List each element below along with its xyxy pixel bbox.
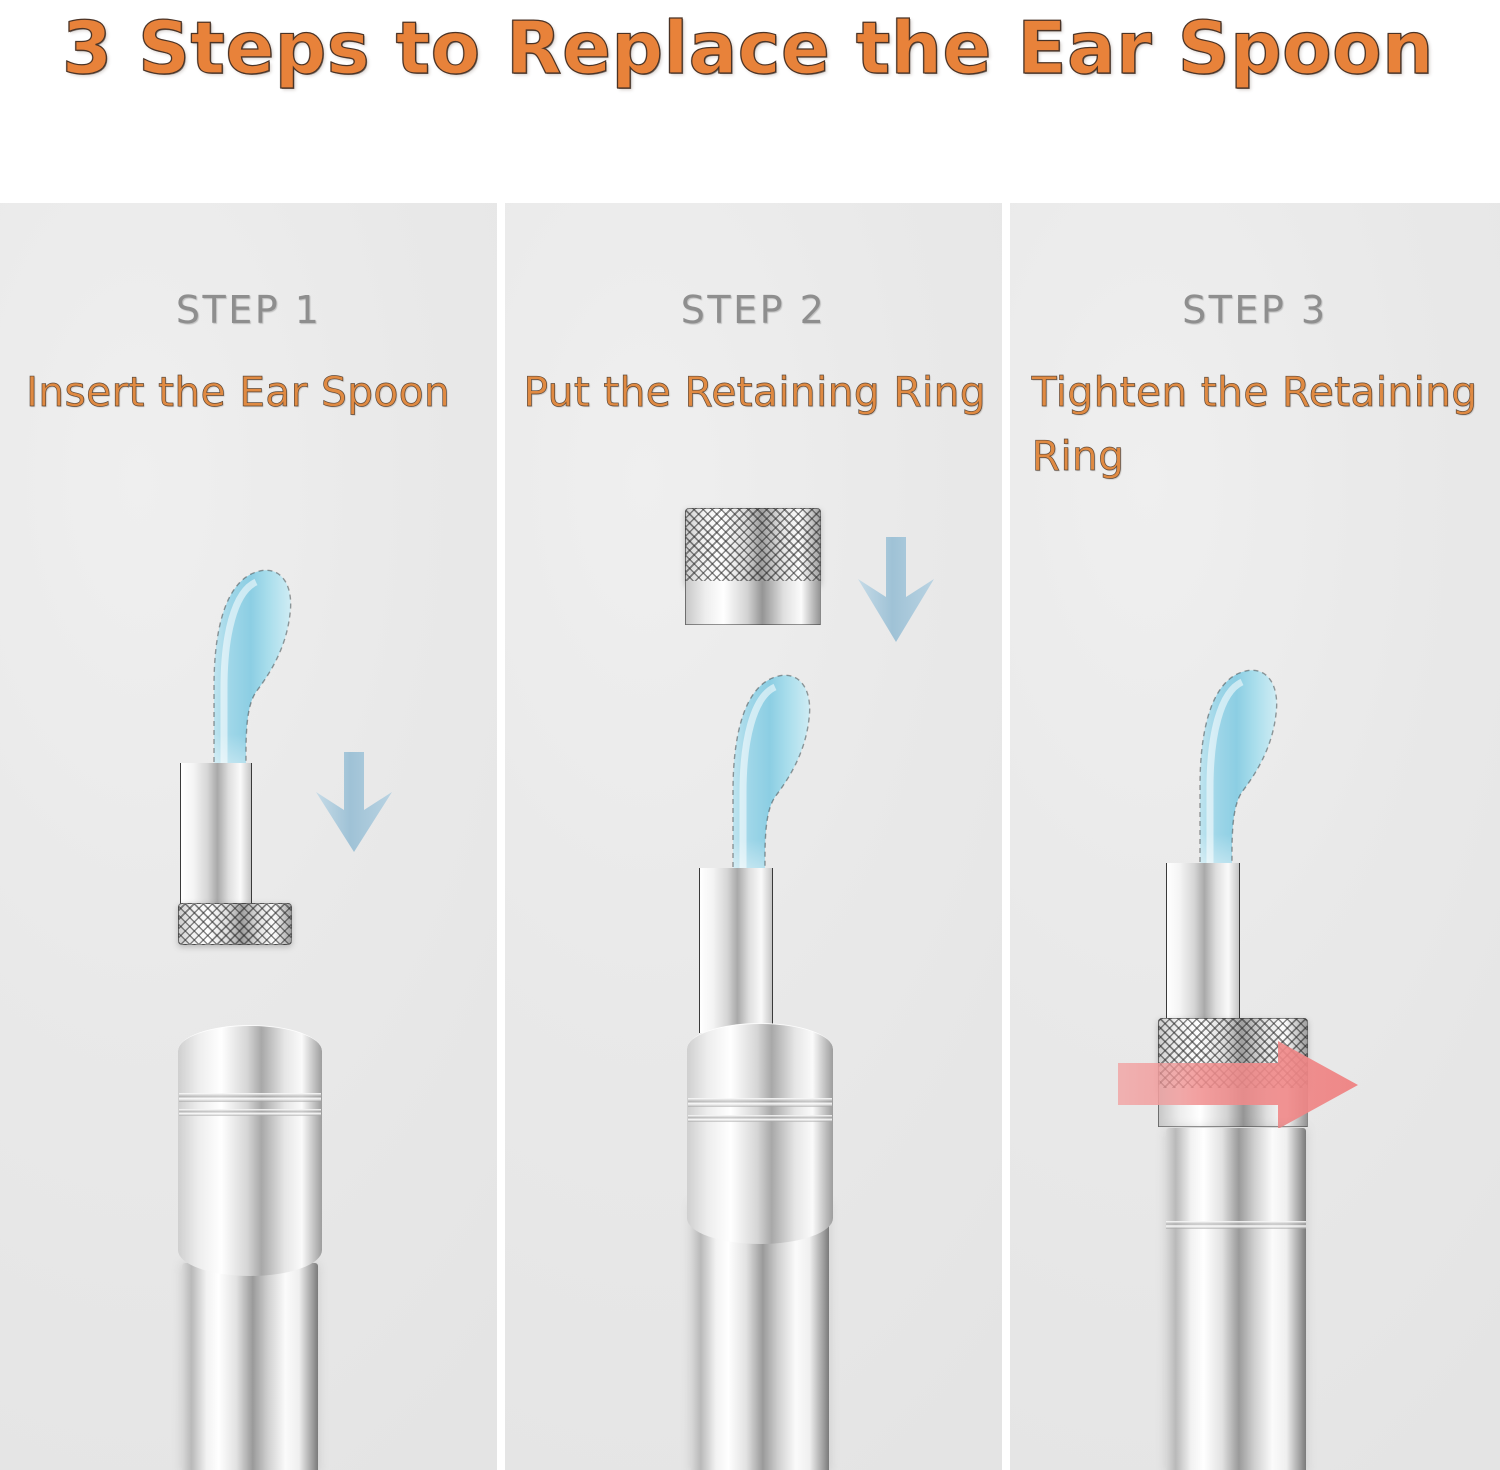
barrel-neck	[687, 1023, 833, 1244]
steps-row: STEP 1 Insert the Ear Spoon	[0, 203, 1500, 1470]
arrow-down-icon	[308, 748, 400, 858]
device-barrel	[1166, 1128, 1306, 1470]
arrow-right-rotate-icon	[1028, 1033, 1408, 1143]
ear-spoon-tip	[1158, 658, 1288, 898]
step-2-instruction: Put the Retaining Ring	[523, 361, 991, 425]
step-panel-1: STEP 1 Insert the Ear Spoon	[0, 203, 497, 1470]
step-panel-3: STEP 3 Tighten the Retaining Ring	[1010, 203, 1500, 1470]
title-bar: 3 Steps to Replace the Ear Spoon	[0, 0, 1500, 203]
ear-spoon-tip	[691, 663, 821, 903]
device-barrel	[182, 1263, 318, 1470]
step-1-instruction: Insert the Ear Spoon	[26, 361, 483, 425]
panel-divider-1	[497, 203, 505, 1470]
arrow-down-icon	[850, 533, 942, 648]
retaining-ring	[685, 508, 821, 585]
retaining-ring-band	[685, 581, 821, 625]
step-panel-2: STEP 2 Put the Retaining Ring	[505, 203, 1001, 1470]
ear-spoon-tip	[172, 558, 302, 798]
barrel-thread-ring	[1166, 1221, 1306, 1229]
barrel-thread-ring-2	[179, 1109, 321, 1116]
step-2-label: STEP 2	[505, 288, 1001, 332]
barrel-neck	[178, 1025, 322, 1276]
step-3-instruction: Tighten the Retaining Ring	[1032, 361, 1490, 488]
barrel-thread-ring	[688, 1098, 832, 1107]
metal-shaft	[1166, 863, 1240, 1028]
spoon-base-collar	[178, 903, 292, 945]
barrel-thread-ring-2	[688, 1115, 832, 1122]
metal-shaft	[699, 868, 773, 1033]
step-3-label: STEP 3	[1010, 288, 1500, 332]
panel-divider-2	[1002, 203, 1010, 1470]
step-1-label: STEP 1	[0, 288, 497, 332]
page-title: 3 Steps to Replace the Ear Spoon	[62, 6, 1434, 90]
barrel-thread-ring	[179, 1093, 321, 1102]
instruction-graphic: 3 Steps to Replace the Ear Spoon STEP 1 …	[0, 0, 1500, 1470]
